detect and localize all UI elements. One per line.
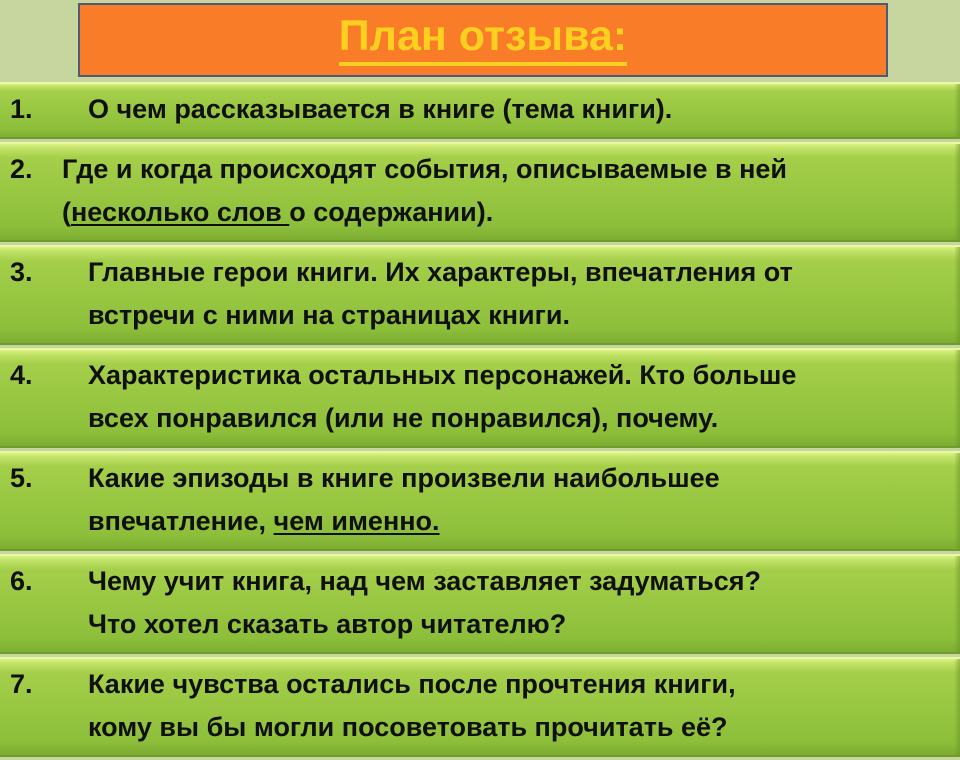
list-item: 7.Какие чувства остались после прочтения… — [0, 657, 960, 757]
list-item: 5.Какие эпизоды в книге произвели наибол… — [0, 451, 960, 551]
list-item-text: Характеристика остальных персонажей. Кто… — [88, 354, 946, 440]
text-segment: О чем рассказывается в книге (тема книги… — [88, 94, 672, 124]
list-item-number: 7. — [10, 663, 54, 706]
list-item-row: 3.Главные герои книги. Их характеры, впе… — [0, 251, 960, 337]
list-item-text: Чему учит книга, над чем заставляет заду… — [88, 560, 946, 646]
underlined-phrase: чем именно. — [274, 506, 440, 536]
list-item: 3.Главные герои книги. Их характеры, впе… — [0, 245, 960, 345]
list-item-text: О чем рассказывается в книге (тема книги… — [88, 88, 946, 131]
list-item-row: 5.Какие эпизоды в книге произвели наибол… — [0, 457, 960, 543]
list-item-text: Главные герои книги. Их характеры, впеча… — [88, 251, 946, 337]
plan-list: 1.О чем рассказывается в книге (тема кни… — [0, 82, 960, 760]
list-item-text: Какие эпизоды в книге произвели наибольш… — [88, 457, 946, 543]
page-title: План отзыва: — [339, 15, 628, 66]
list-item-row: 7.Какие чувства остались после прочтения… — [0, 663, 960, 749]
text-segment: Главные герои книги. Их характеры, впеча… — [88, 257, 793, 330]
list-item-number: 1. — [10, 88, 54, 131]
text-segment: Характеристика остальных персонажей. Кто… — [88, 360, 796, 433]
list-item-row: 1.О чем рассказывается в книге (тема кни… — [0, 88, 960, 131]
list-item-number: 5. — [10, 457, 54, 500]
list-item-row: 2.Где и когда происходят события, описыв… — [0, 148, 960, 234]
text-segment: Какие чувства остались после прочтения к… — [88, 669, 736, 742]
list-item-number: 4. — [10, 354, 54, 397]
list-item-text: Где и когда происходят события, описывае… — [62, 148, 946, 234]
list-item: 4.Характеристика остальных персонажей. К… — [0, 348, 960, 448]
list-item-row: 4.Характеристика остальных персонажей. К… — [0, 354, 960, 440]
list-item: 6.Чему учит книга, над чем заставляет за… — [0, 554, 960, 654]
text-segment: Чему учит книга, над чем заставляет заду… — [88, 566, 761, 639]
text-segment: о содержании). — [289, 197, 493, 227]
list-item-number: 2. — [10, 148, 54, 191]
list-item-row: 6.Чему учит книга, над чем заставляет за… — [0, 560, 960, 646]
list-item: 2.Где и когда происходят события, описыв… — [0, 142, 960, 242]
list-item: 1.О чем рассказывается в книге (тема кни… — [0, 82, 960, 139]
list-item-number: 6. — [10, 560, 54, 603]
list-item-number: 3. — [10, 251, 54, 294]
list-item-text: Какие чувства остались после прочтения к… — [88, 663, 946, 749]
slide: План отзыва: 1.О чем рассказывается в кн… — [0, 0, 960, 720]
underlined-phrase: несколько слов — [71, 197, 289, 227]
title-box: План отзыва: — [78, 3, 888, 77]
